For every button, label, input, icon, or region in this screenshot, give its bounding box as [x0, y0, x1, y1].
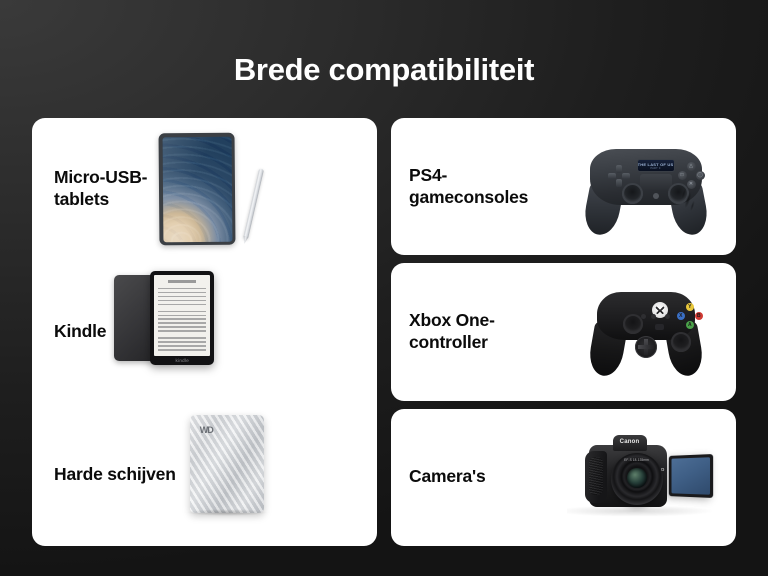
square-button-icon: □ [678, 171, 687, 180]
xbox-body: Y B A X [597, 292, 695, 340]
xbox-stick-left [623, 314, 643, 334]
left-column: Micro-USB- tablets Kindle [32, 118, 377, 546]
list-item-kindle[interactable]: Kindle [32, 261, 377, 404]
kindle-chapter-title [168, 280, 196, 283]
y-button: Y [686, 303, 695, 312]
kindle-brand-label: kindle [150, 358, 214, 363]
x-button: X [677, 312, 686, 321]
drop-shadow [567, 505, 717, 517]
circle-button-icon: ◯ [696, 171, 705, 180]
kindle-ereaders-image: kindle [106, 261, 371, 404]
xbox-controller-image: Y B A X [559, 263, 732, 400]
lightbar-title: THE LAST OF US [638, 162, 674, 167]
right-column: PS4- gameconsoles THE LAST OF US PART II [391, 118, 736, 546]
compatibility-poster: Brede compatibiliteit Micro-USB- tablets [0, 0, 768, 576]
tablet-with-stylus-image [147, 118, 371, 261]
list-item-harde-schijven[interactable]: Harde schijven WD [32, 403, 377, 546]
a-button: A [686, 321, 695, 330]
page-title: Brede compatibiliteit [0, 52, 768, 88]
menu-button-icon [651, 314, 656, 319]
stylus-pen [243, 168, 264, 239]
wd-logo: WD [197, 423, 216, 436]
list-item-label: Micro-USB- tablets [54, 167, 147, 211]
xbox-controller-device: Y B A X [583, 286, 709, 378]
left-card[interactable]: Micro-USB- tablets Kindle [32, 118, 377, 546]
dslr-camera-image: Canon EOS 90D EF-S 18-135mm [559, 409, 732, 546]
kindle-front-device: kindle [150, 271, 214, 365]
b-button: B [695, 312, 704, 321]
kindle-screen [154, 275, 210, 356]
ps4-lightbar-screen: THE LAST OF US PART II [637, 159, 675, 172]
ps-home-button-icon [653, 193, 659, 199]
lightbar-subtitle: PART II [638, 167, 674, 170]
share-button-icon [655, 324, 664, 330]
camera-lens: EF-S 18-135mm [611, 453, 663, 505]
card-label: PS4- gameconsoles [409, 165, 559, 209]
camera-grip [585, 451, 607, 503]
card-grid: Micro-USB- tablets Kindle [32, 118, 736, 546]
external-hard-drive-image: WD [176, 403, 371, 546]
card-ps4-gameconsoles[interactable]: PS4- gameconsoles THE LAST OF US PART II [391, 118, 736, 255]
list-item-label: Kindle [54, 321, 106, 343]
triangle-button-icon: △ [687, 162, 696, 171]
xbox-stick-right [671, 332, 691, 352]
camera-brand-label: Canon [613, 439, 647, 445]
list-item-micro-usb-tablets[interactable]: Micro-USB- tablets [32, 118, 377, 261]
ps4-controller-image: THE LAST OF US PART II △ ◯ ✕ □ [559, 118, 732, 255]
tablet-device [159, 133, 236, 246]
camera-lcd-screen [668, 454, 712, 498]
dpad-icon [635, 336, 657, 358]
list-item-label: Harde schijven [54, 464, 176, 486]
ps4-stick-left [622, 183, 643, 204]
card-label: Xbox One- controller [409, 310, 559, 354]
hard-drive-device: WD [190, 415, 264, 513]
ps4-controller-device: THE LAST OF US PART II △ ◯ ✕ □ [580, 143, 712, 231]
lens-spec-label: EF-S 18-135mm [611, 458, 663, 462]
drop-shadow [186, 509, 268, 516]
xbox-face-buttons: Y B A X [677, 304, 703, 330]
card-cameras[interactable]: Camera's Canon EOS 90D EF-S 18-135mm [391, 409, 736, 546]
ps4-touchpad [640, 174, 672, 190]
sync-button-icon [665, 314, 670, 319]
dslr-camera-device: Canon EOS 90D EF-S 18-135mm [571, 431, 721, 523]
card-xbox-one-controller[interactable]: Xbox One- controller Y [391, 263, 736, 400]
tablet-screen [162, 136, 232, 242]
card-label: Camera's [409, 466, 559, 488]
